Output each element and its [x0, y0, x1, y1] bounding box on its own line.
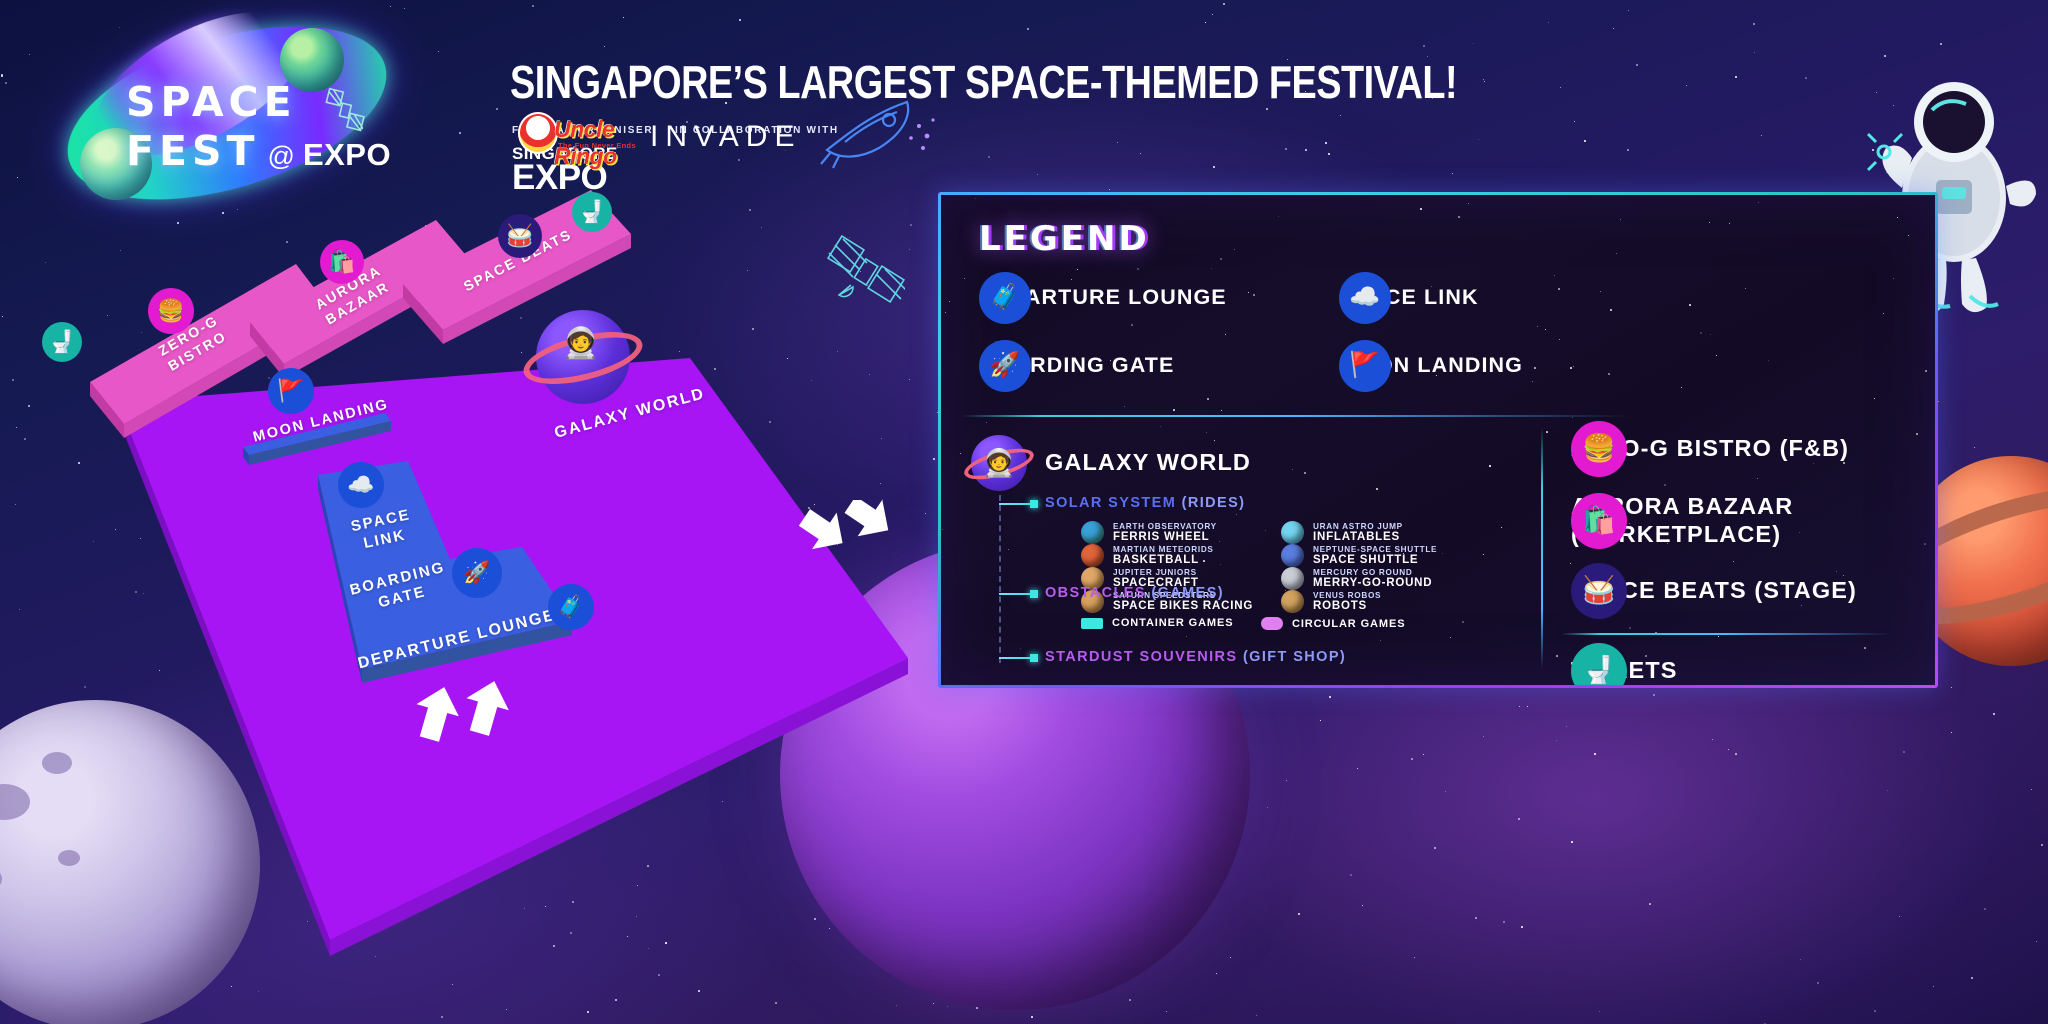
- legend-item-zero-g-bistro[interactable]: 🍔 ZERO-G BISTRO (F&B): [1571, 435, 1849, 463]
- ride-planet-name: MARTIAN METEORIDS: [1113, 545, 1214, 554]
- planet-icon: [1281, 590, 1304, 613]
- planet-icon: [1281, 567, 1304, 590]
- ride-text: MERCURY GO ROUNDMERRY-GO-ROUND: [1313, 568, 1432, 590]
- ride-name: SPACE SHUTTLE: [1313, 554, 1437, 567]
- legend-obstacle-container-games[interactable]: CONTAINER GAMES: [1081, 617, 1233, 629]
- astronaut-luggage-icon: 🧳: [979, 272, 1031, 324]
- legend-obstacle-circular-games[interactable]: CIRCULAR GAMES: [1261, 617, 1405, 630]
- ride-text: URAN ASTRO JUMPINFLATABLES: [1313, 522, 1403, 544]
- map-avatar-departure-lounge[interactable]: 🧳: [548, 584, 594, 630]
- map-avatar-toilet-top[interactable]: 🚽: [572, 192, 612, 232]
- ride-name: FERRIS WHEEL: [1113, 531, 1217, 544]
- ride-text: VENUS ROBOSROBOTS: [1313, 591, 1381, 613]
- planet-icon: [1281, 521, 1304, 544]
- legend-divider-top: [961, 415, 1631, 417]
- legend-ride-item[interactable]: MERCURY GO ROUNDMERRY-GO-ROUND: [1281, 567, 1432, 590]
- map-avatar-moon-landing[interactable]: 🚩: [268, 368, 314, 414]
- legend-label: GALAXY WORLD: [1045, 449, 1251, 477]
- legend-panel: LEGEND 🧳 DEPARTURE LOUNGE ☁️ SPACE LINK …: [938, 192, 1938, 688]
- map-avatar-space-link[interactable]: ☁️: [338, 462, 384, 508]
- astronaut-rocket-icon: 🚀: [979, 340, 1031, 392]
- astronaut-fries-burger-icon: 🍔: [1571, 421, 1627, 477]
- festival-map-poster: SPACE FEST @ EXPO SINGAPORE’S LARGEST SP…: [0, 0, 2048, 1024]
- ride-planet-name: NEPTUNE-SPACE SHUTTLE: [1313, 545, 1437, 554]
- planet-icon: [1281, 544, 1304, 567]
- ride-name: ROBOTS: [1313, 600, 1381, 613]
- astronaut-ringed-planet-icon: 🧑‍🚀: [971, 435, 1027, 491]
- astronaut-toilet-icon: 🚽: [1571, 643, 1627, 688]
- legend-subheading-rides: SOLAR SYSTEM (RIDES): [1045, 495, 1245, 511]
- legend-title: LEGEND: [979, 219, 1150, 259]
- astronaut-shopping-bags-icon: 🛍️: [1571, 493, 1627, 549]
- ride-planet-name: VENUS ROBOS: [1313, 591, 1381, 600]
- tree-tick-obstacles: [999, 593, 1033, 595]
- planet-icon: [1081, 544, 1104, 567]
- legend-divider-toilets: [1561, 633, 1891, 635]
- legend-item-toilets[interactable]: 🚽 TOILETS: [1571, 657, 1678, 685]
- ride-planet-name: JUPITER JUNIORS: [1113, 568, 1199, 577]
- legend-label: CONTAINER GAMES: [1112, 617, 1233, 629]
- festival-map: ZERO-GBISTRO AURORABAZAAR SPACE BEATS MO…: [0, 0, 1000, 1024]
- legend-item-space-beats[interactable]: 🥁 SPACE BEATS (STAGE): [1571, 577, 1857, 605]
- legend-item-space-link[interactable]: ☁️ SPACE LINK: [1339, 285, 1479, 310]
- map-galaxy-world-planet[interactable]: 🧑‍🚀: [528, 302, 638, 412]
- astronaut-flag-icon: 🚩: [1339, 340, 1391, 392]
- map-avatar-toilet-left[interactable]: 🚽: [42, 322, 82, 362]
- map-avatar-space-beats[interactable]: 🥁: [498, 214, 542, 258]
- ride-planet-name: EARTH OBSERVATORY: [1113, 522, 1217, 531]
- legend-item-departure-lounge[interactable]: 🧳 DEPARTURE LOUNGE: [979, 285, 1227, 310]
- tree-tick-rides: [999, 503, 1033, 505]
- ride-name: MERRY-GO-ROUND: [1313, 577, 1432, 590]
- legend-label: CIRCULAR GAMES: [1292, 618, 1405, 630]
- astronaut-drums-icon: 🥁: [1571, 563, 1627, 619]
- ride-text: MARTIAN METEORIDSBASKETBALL: [1113, 545, 1214, 567]
- legend-item-boarding-gate[interactable]: 🚀 BOARDING GATE: [979, 353, 1174, 378]
- legend-item-aurora-bazaar[interactable]: 🛍️ AURORA BAZAAR (MARKETPLACE): [1571, 493, 1793, 548]
- astronaut-cloud-icon: ☁️: [1339, 272, 1391, 324]
- map-avatar-boarding-gate[interactable]: 🚀: [452, 548, 502, 598]
- container-games-swatch: [1081, 618, 1103, 629]
- map-avatar-zero-g-bistro[interactable]: 🍔: [148, 288, 194, 334]
- map-avatar-aurora-bazaar[interactable]: 🛍️: [320, 240, 364, 284]
- legend-vertical-divider: [1541, 427, 1543, 669]
- circular-games-swatch: [1261, 617, 1283, 630]
- legend-ride-item[interactable]: VENUS ROBOSROBOTS: [1281, 590, 1381, 613]
- ride-text: NEPTUNE-SPACE SHUTTLESPACE SHUTTLE: [1313, 545, 1437, 567]
- direction-arrows-up: [410, 660, 540, 750]
- legend-ride-item[interactable]: MARTIAN METEORIDSBASKETBALL: [1081, 544, 1214, 567]
- ride-name: SPACE BIKES RACING: [1113, 600, 1253, 613]
- ride-name: BASKETBALL: [1113, 554, 1214, 567]
- ride-name: INFLATABLES: [1313, 531, 1403, 544]
- ride-planet-name: URAN ASTRO JUMP: [1313, 522, 1403, 531]
- direction-arrows-right: [790, 500, 910, 580]
- legend-subheading-souvenirs: STARDUST SOUVENIRS (GIFT SHOP): [1045, 649, 1346, 665]
- planet-icon: [1081, 521, 1104, 544]
- ride-text: EARTH OBSERVATORYFERRIS WHEEL: [1113, 522, 1217, 544]
- legend-tree-line: [999, 495, 1001, 663]
- legend-ride-item[interactable]: NEPTUNE-SPACE SHUTTLESPACE SHUTTLE: [1281, 544, 1437, 567]
- ride-planet-name: MERCURY GO ROUND: [1313, 568, 1432, 577]
- legend-item-galaxy-world[interactable]: 🧑‍🚀 GALAXY WORLD: [971, 435, 1251, 491]
- legend-subheading-obstacles: OBSTACLES (GAMES): [1045, 585, 1224, 601]
- legend-ride-item[interactable]: EARTH OBSERVATORYFERRIS WHEEL: [1081, 521, 1217, 544]
- legend-ride-item[interactable]: URAN ASTRO JUMPINFLATABLES: [1281, 521, 1403, 544]
- legend-item-moon-landing[interactable]: 🚩 MOON LANDING: [1339, 353, 1523, 378]
- tree-tick-souvenirs: [999, 657, 1033, 659]
